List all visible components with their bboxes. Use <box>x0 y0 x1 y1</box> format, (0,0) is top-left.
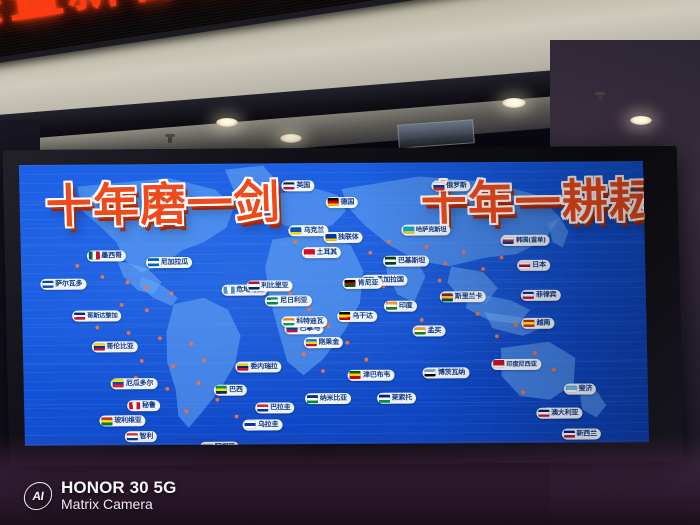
map-label-43: 斐济 <box>563 383 596 394</box>
map-dot <box>495 334 499 338</box>
map-label-1: 尼加拉瓜 <box>146 257 192 268</box>
map-dot <box>500 256 504 260</box>
ai-logo-icon: AI <box>22 482 54 510</box>
sprinkler-head-1 <box>168 134 172 143</box>
watermark-mode: Matrix Camera <box>61 497 176 513</box>
map-label-45: 新西兰 <box>561 428 601 439</box>
map-label-42: 莱索托 <box>376 393 416 404</box>
country-name: 厄瓜多尔 <box>126 379 153 388</box>
map-label-40: 博茨瓦纳 <box>423 367 469 378</box>
map-label-33: 尼日利亚 <box>265 295 311 306</box>
country-name: 澳大利亚 <box>551 408 578 417</box>
flag-icon <box>339 312 350 320</box>
map-label-11: 玻利维亚 <box>99 416 145 427</box>
map-label-12: 巴拉圭 <box>255 402 295 413</box>
country-name: 斯里兰卡 <box>455 292 482 301</box>
map-dot <box>158 336 162 340</box>
map-dot <box>100 275 104 279</box>
map-dot <box>420 318 424 322</box>
map-label-38: 斯里兰卡 <box>440 291 486 302</box>
map-dot <box>481 267 485 271</box>
country-name: 印度 <box>399 301 413 310</box>
flag-icon <box>127 433 138 441</box>
map-label-13: 乌拉圭 <box>243 419 283 430</box>
map-label-19: 俄罗斯 <box>431 180 471 191</box>
flag-icon <box>283 182 294 190</box>
watermark-device: HONOR 30 5G <box>61 478 176 497</box>
map-label-4: 哥斯达黎加 <box>72 310 122 321</box>
map-label-29: 越南 <box>521 318 554 329</box>
country-name: 巴拉圭 <box>270 403 291 412</box>
flag-icon <box>503 237 514 245</box>
flag-icon <box>345 280 356 288</box>
country-name: 德国 <box>340 198 354 207</box>
flag-icon <box>386 302 397 310</box>
sprinkler-head-2 <box>598 92 602 101</box>
flag-icon <box>248 282 259 290</box>
map-label-35: 肯尼亚 <box>343 278 383 289</box>
map-label-8: 厄瓜多尔 <box>111 378 157 389</box>
map-dot <box>345 341 349 345</box>
flag-icon <box>566 385 577 393</box>
map-label-23: 韩国(釜单) <box>501 235 550 246</box>
screen-display: 十年磨一剑 十年一耕耘 墨西哥尼加拉瓜萨尔瓦多危地马拉哥斯达黎加巴拿马哥伦比亚委… <box>19 161 649 446</box>
map-label-20: 独联体 <box>323 232 363 243</box>
country-name: 博茨瓦纳 <box>438 368 465 377</box>
map-label-10: 秘鲁 <box>127 400 160 411</box>
country-name: 巴西 <box>229 385 243 394</box>
country-name: 委内瑞拉 <box>250 362 277 371</box>
watermark-text: HONOR 30 5G Matrix Camera <box>61 478 176 513</box>
map-label-7: 委内瑞拉 <box>235 361 281 372</box>
country-name: 乌拉圭 <box>258 420 279 429</box>
country-name: 越南 <box>537 319 551 328</box>
flag-icon <box>307 395 318 403</box>
flag-icon <box>257 404 268 412</box>
map-label-44: 澳大利亚 <box>536 407 582 418</box>
map-label-34: 科特迪瓦 <box>281 316 327 327</box>
map-label-14: 智利 <box>125 431 158 442</box>
country-name: 尼加拉瓜 <box>161 258 188 267</box>
map-dot <box>364 358 368 362</box>
country-name: 科特迪瓦 <box>296 317 323 326</box>
map-label-36: 乌干达 <box>337 310 377 321</box>
map-label-22: 哈萨克斯坦 <box>401 224 451 235</box>
country-name: 尼日利亚 <box>280 296 307 305</box>
map-dot <box>321 369 325 373</box>
flag-icon <box>538 409 549 417</box>
map-label-16: 英国 <box>281 180 314 191</box>
map-dot <box>438 279 442 283</box>
flag-icon <box>425 369 436 377</box>
map-label-6: 哥伦比亚 <box>91 341 137 352</box>
country-name: 墨西哥 <box>101 251 122 260</box>
map-label-2: 萨尔瓦多 <box>40 278 86 289</box>
map-dot <box>235 415 239 419</box>
camera-watermark: AI HONOR 30 5G Matrix Camera <box>24 478 176 513</box>
country-name: 韩国(釜单) <box>516 236 546 245</box>
map-dot <box>75 264 79 268</box>
downlight-3 <box>502 98 526 108</box>
downlight-4 <box>630 116 652 125</box>
led-video-wall: 十年磨一剑 十年一耕耘 墨西哥尼加拉瓜萨尔瓦多危地马拉哥斯达黎加巴拿马哥伦比亚委… <box>3 146 684 466</box>
map-label-39: 津巴布韦 <box>348 369 394 380</box>
downlight-2 <box>280 134 302 143</box>
flag-icon <box>378 395 389 403</box>
flag-icon <box>223 286 234 294</box>
country-name: 智利 <box>140 432 154 441</box>
flag-icon <box>237 363 248 371</box>
map-dot <box>165 387 169 391</box>
map-label-31: 印度尼西亚 <box>491 358 541 369</box>
flag-icon <box>563 430 574 438</box>
flag-icon <box>42 280 53 288</box>
country-name: 孟买 <box>427 326 441 335</box>
flag-icon <box>291 227 302 235</box>
flag-icon <box>93 343 104 351</box>
flag-icon <box>129 402 140 410</box>
country-name: 乌干达 <box>352 311 373 320</box>
flag-icon <box>304 249 315 257</box>
flag-icon <box>403 226 414 234</box>
map-label-27: 印度 <box>384 300 417 311</box>
country-name: 哥斯达黎加 <box>87 311 118 320</box>
map-dot <box>127 331 131 335</box>
downlight-1 <box>216 118 238 127</box>
map-label-18: 乌克兰 <box>289 225 329 236</box>
map-dot <box>140 359 144 363</box>
country-name: 哥伦比亚 <box>106 342 133 351</box>
flag-icon <box>216 386 227 394</box>
flag-icon <box>523 291 534 299</box>
country-name: 新西兰 <box>576 429 597 438</box>
country-name: 秘鲁 <box>142 401 156 410</box>
photo-scene: 会暨新春线路分享会 <box>0 0 700 525</box>
flag-icon <box>267 297 278 305</box>
flag-icon <box>148 259 159 267</box>
country-name: 纳米比亚 <box>320 394 347 403</box>
flag-icon <box>113 380 124 388</box>
country-name: 哈萨克斯坦 <box>416 225 447 234</box>
country-name: 印度尼西亚 <box>506 359 537 368</box>
flag-icon <box>327 199 338 207</box>
map-label-17: 德国 <box>325 197 358 208</box>
map-label-41: 纳米比亚 <box>305 393 351 404</box>
country-name: 斐济 <box>579 384 593 393</box>
country-name: 英国 <box>296 181 310 190</box>
country-name: 土耳其 <box>317 248 338 257</box>
country-name: 刚果金 <box>318 338 339 347</box>
map-dot <box>120 303 124 307</box>
country-name: 独联体 <box>338 233 359 242</box>
flag-icon <box>524 320 535 328</box>
map-label-28: 菲律宾 <box>521 290 561 301</box>
flag-icon <box>414 327 425 335</box>
map-label-21: 土耳其 <box>302 247 342 258</box>
flag-icon <box>385 257 396 265</box>
ceiling-vent <box>397 119 475 149</box>
map-dot <box>95 326 99 330</box>
flag-icon <box>74 312 85 320</box>
map-label-25: 巴基斯坦 <box>383 255 429 266</box>
map-dot <box>368 251 372 255</box>
country-name: 巴基斯坦 <box>398 256 425 265</box>
flag-icon <box>306 339 317 347</box>
flag-icon <box>442 293 453 301</box>
flag-icon <box>493 360 504 368</box>
map-label-30: 孟买 <box>412 325 445 336</box>
map-label-37: 刚果金 <box>303 337 343 348</box>
country-name: 萨尔瓦多 <box>55 279 82 288</box>
country-name: 肯尼亚 <box>358 279 379 288</box>
flag-icon <box>350 371 361 379</box>
map-label-9: 巴西 <box>214 384 247 395</box>
flag-icon <box>433 182 444 190</box>
country-name: 乌克兰 <box>304 226 325 235</box>
country-name: 玻利维亚 <box>114 417 141 426</box>
flag-icon <box>325 234 336 242</box>
flag-icon <box>283 318 294 326</box>
country-name: 利比里亚 <box>261 281 288 290</box>
flag-icon <box>101 418 112 426</box>
flag-icon <box>245 421 256 429</box>
country-name: 俄罗斯 <box>446 182 467 191</box>
map-label-24: 日本 <box>517 260 550 271</box>
flag-icon <box>88 252 99 260</box>
map-label-0: 墨西哥 <box>86 250 126 261</box>
map-dot <box>215 398 219 402</box>
country-name: 津巴布韦 <box>363 370 390 379</box>
country-name: 莱索托 <box>391 394 412 403</box>
country-name: 菲律宾 <box>536 291 557 300</box>
map-dot <box>145 308 149 312</box>
flag-icon <box>519 262 530 270</box>
map-label-32: 利比里亚 <box>246 280 292 291</box>
country-name: 日本 <box>532 261 546 270</box>
